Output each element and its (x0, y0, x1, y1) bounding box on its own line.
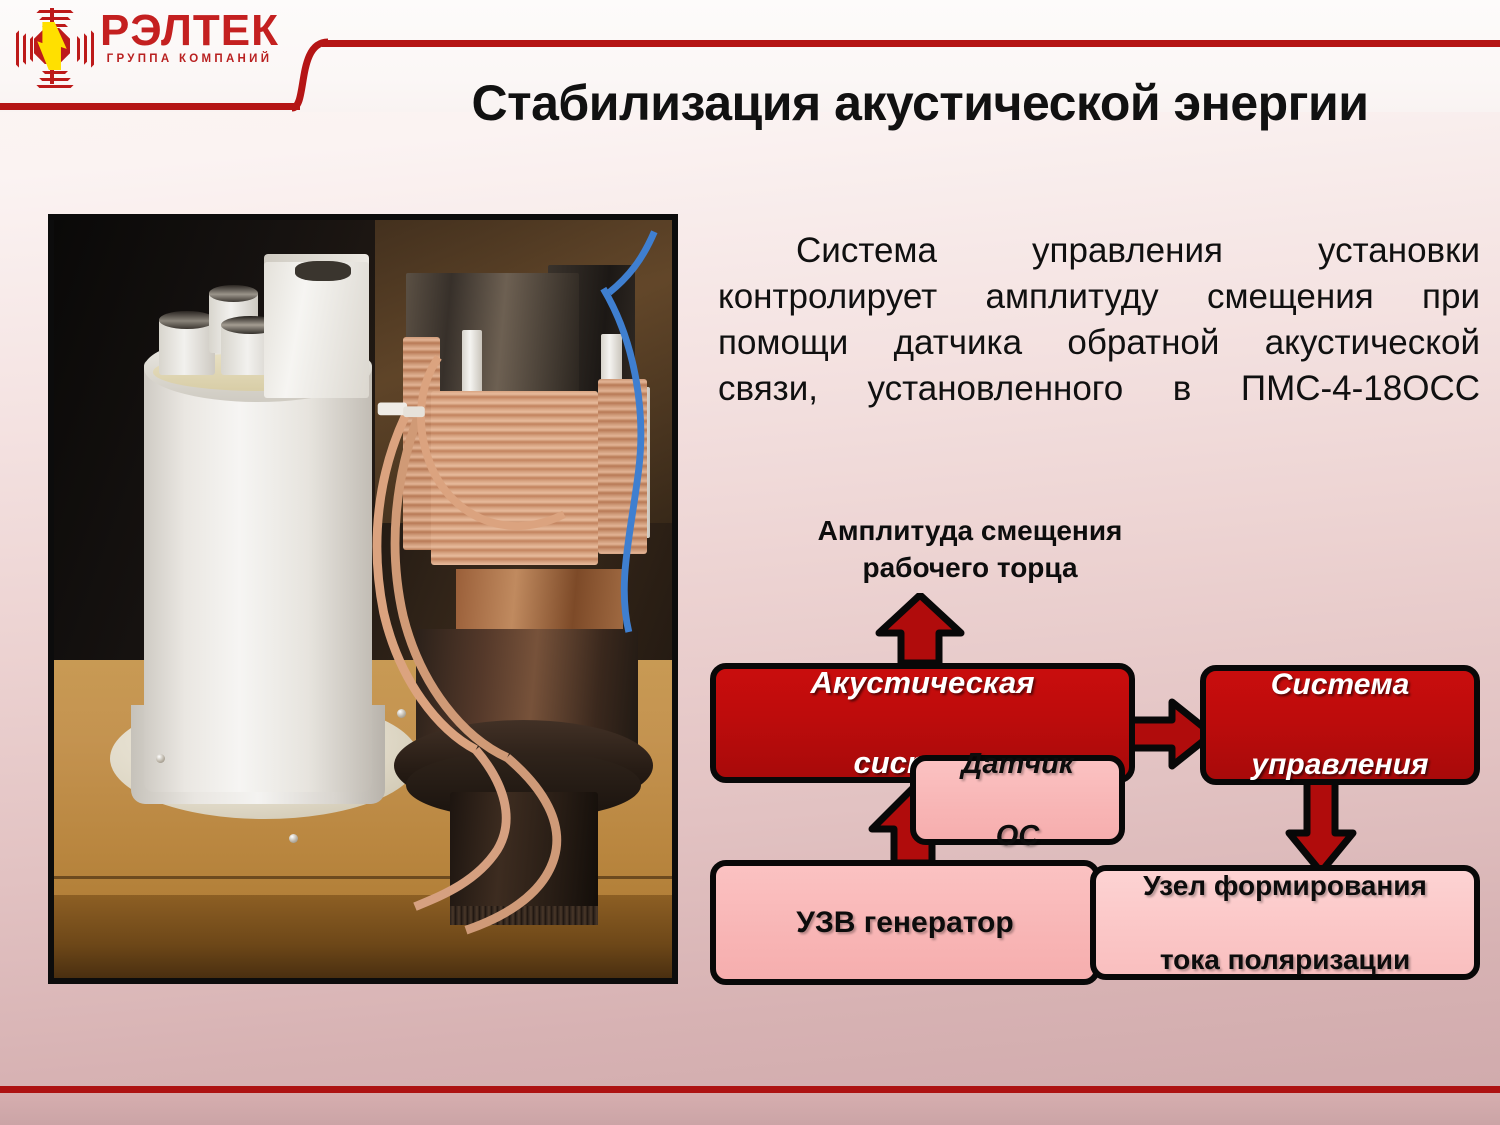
node-polarization-unit-text: Узел формирования тока поляризации (1096, 867, 1474, 978)
arrow-control-to-polarization-icon (1285, 775, 1357, 875)
body-text: Система управления установки контролируе… (718, 228, 1480, 458)
node-control-system-line2: управления (1206, 745, 1474, 785)
brand-name: РЭЛТЕК (100, 6, 279, 56)
diagram-node-feedback-sensor[interactable]: Датчик ОС (910, 755, 1125, 845)
node-polarization-unit-line2: тока поляризации (1096, 941, 1474, 978)
node-feedback-sensor-text: Датчик ОС (916, 746, 1119, 854)
output-amplitude-line1: Амплитуда смещения (818, 515, 1123, 546)
node-control-system-text: Система управления (1206, 665, 1474, 785)
node-polarization-unit-line1: Узел формирования (1096, 867, 1474, 904)
node-acoustic-system-line1: Акустическая (716, 663, 1129, 703)
diagram-node-polarization-unit[interactable]: Узел формирования тока поляризации (1090, 865, 1480, 980)
diagram-node-control-system[interactable]: Система управления (1200, 665, 1480, 785)
footer-band (0, 1093, 1500, 1125)
node-uzv-generator-text: УЗВ генератор (716, 906, 1094, 940)
arrow-acoustic-to-output-icon (875, 593, 965, 665)
company-logo: РЭЛТЕК ГРУППА КОМПАНИЙ (12, 4, 284, 90)
page-title: Стабилизация акустической энергии (350, 72, 1490, 134)
slide-canvas: РЭЛТЕК ГРУППА КОМПАНИЙ Стабилизация акус… (0, 0, 1500, 1125)
footer-rule (0, 1086, 1500, 1093)
output-amplitude-line2: рабочего торца (862, 552, 1077, 583)
output-amplitude-label: Амплитуда смещения рабочего торца (755, 512, 1185, 586)
block-diagram: Амплитуда смещения рабочего торца Акусти… (690, 500, 1500, 1000)
diagram-node-uzv-generator[interactable]: УЗВ генератор (710, 860, 1100, 985)
node-feedback-sensor-line1: Датчик (916, 746, 1119, 782)
node-control-system-line1: Система (1206, 665, 1474, 705)
logo-wordmark: РЭЛТЕК ГРУППА КОМПАНИЙ (100, 4, 279, 66)
header-rule-right (322, 40, 1500, 47)
body-paragraph: Система управления установки контролируе… (718, 228, 1480, 458)
brand-tagline: ГРУППА КОМПАНИЙ (100, 52, 279, 66)
header-rule-left (0, 103, 300, 110)
octagon-lightning-logo-icon (12, 6, 92, 86)
equipment-photo (48, 214, 678, 984)
photo-wiring (54, 220, 672, 975)
photo-content (54, 220, 672, 978)
node-feedback-sensor-line2: ОС (916, 818, 1119, 854)
header-rule-curve (292, 38, 328, 112)
